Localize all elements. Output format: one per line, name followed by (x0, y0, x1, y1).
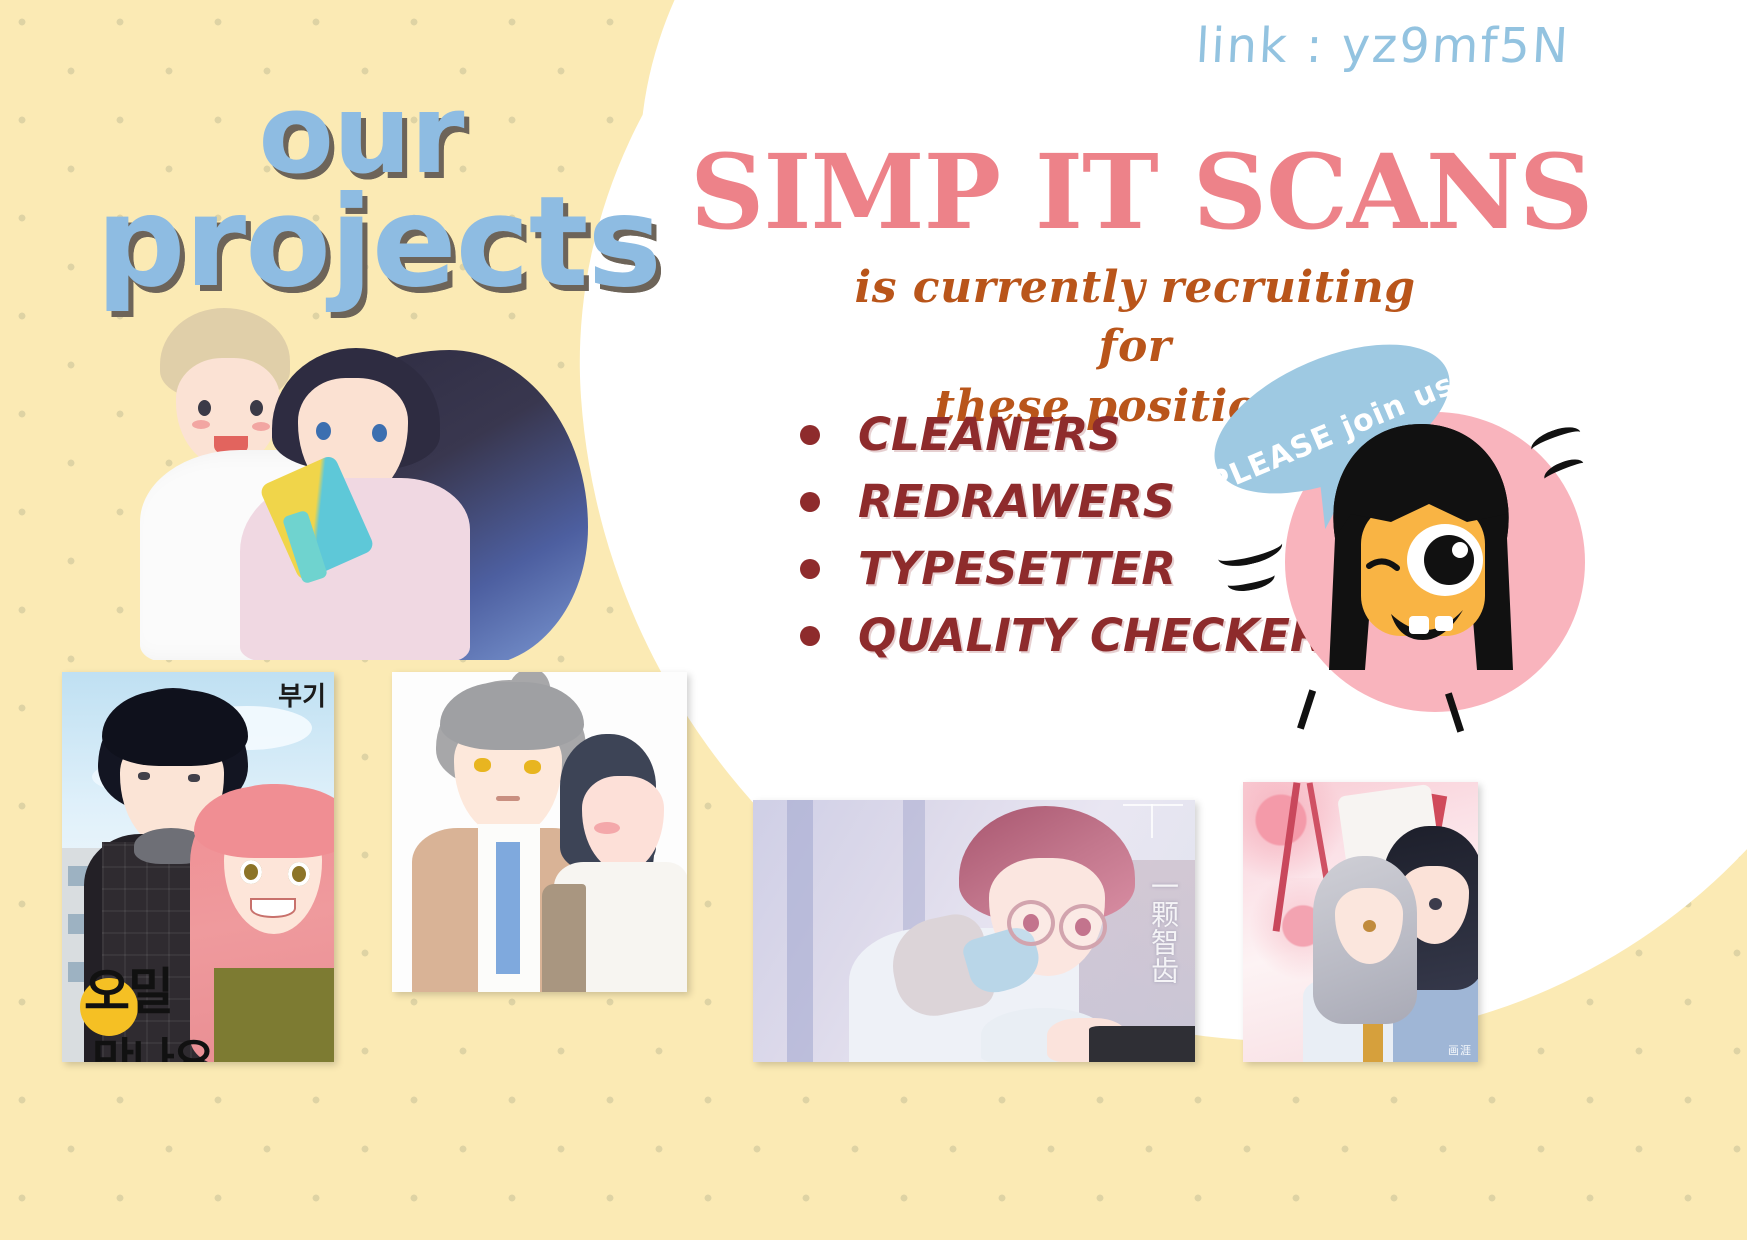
poster-canvas: link : yz9mf5N our projects SIMP IT SCAN… (0, 0, 1747, 1240)
artwork-thumbnail-school-pair[interactable] (392, 672, 687, 992)
artwork-caption-line-2: 만나요 (92, 1024, 213, 1062)
artwork-thumbnail-glasses-boy[interactable]: 一颗智齿 (753, 800, 1195, 1062)
position-label: TYPESETTER (858, 542, 1176, 595)
bullet-dot-icon (800, 492, 820, 512)
bullet-dot-icon (800, 425, 820, 445)
girl-face-illustration (1317, 418, 1527, 718)
bullet-dot-icon (800, 626, 820, 646)
artwork-main-couple[interactable] (140, 300, 610, 660)
artwork-thumbnail-korean-romance[interactable]: 오밀 만나요 부기 (62, 672, 334, 1062)
page-title-our-projects: our projects (96, 84, 626, 300)
girl-tooth-icon (1435, 616, 1453, 631)
artwork-caption-chinese: 一颗智齿 (1107, 808, 1181, 1048)
artwork-corner-text: 부기 (278, 676, 326, 713)
invite-link-text: link : yz9mf5N (1195, 18, 1572, 74)
our-projects-line-2: projects (96, 185, 626, 300)
position-label: REDRAWERS (858, 475, 1175, 528)
group-name-title: SIMP IT SCANS (690, 132, 1592, 253)
motion-line-icon (1215, 530, 1285, 571)
artwork-thumbnail-silver-black-hair[interactable]: 画涯 (1243, 782, 1478, 1062)
girl-tooth-icon (1409, 616, 1429, 634)
motion-line-icon (1225, 565, 1276, 595)
mascot-illustration: PLEASE join us! (1225, 370, 1555, 720)
artwork-watermark: 画涯 (1448, 1042, 1472, 1058)
position-label: CLEANERS (858, 408, 1121, 461)
bullet-dot-icon (800, 559, 820, 579)
